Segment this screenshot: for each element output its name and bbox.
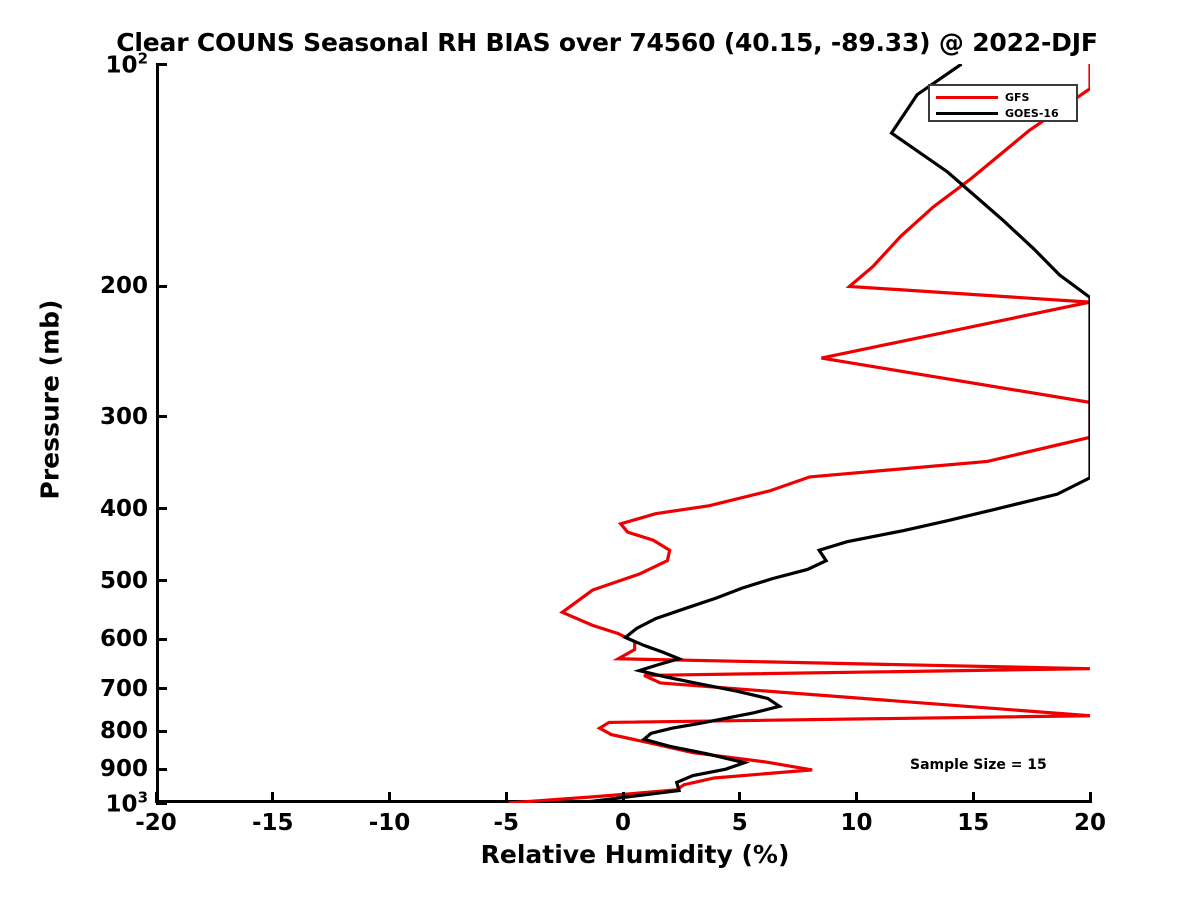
x-tick xyxy=(622,792,625,803)
x-tick xyxy=(972,792,975,803)
x-tick-label: -10 xyxy=(369,810,411,836)
x-tick-label: -5 xyxy=(493,810,519,836)
plot-area xyxy=(156,64,1090,803)
y-tick xyxy=(156,63,167,66)
y-tick xyxy=(156,730,167,733)
legend-swatch-goes16 xyxy=(936,112,998,115)
y-tick-label: 700 xyxy=(100,676,148,702)
x-axis-title: Relative Humidity (%) xyxy=(0,840,1200,869)
y-tick-label: 500 xyxy=(100,568,148,594)
legend-label-gfs: GFS xyxy=(1005,91,1029,104)
y-tick-label: 200 xyxy=(100,273,148,299)
y-tick-label: 400 xyxy=(100,496,148,522)
chart-title: Clear COUNS Seasonal RH BIAS over 74560 … xyxy=(0,28,1200,57)
y-tick xyxy=(156,285,167,288)
legend-label-goes16: GOES-16 xyxy=(1005,107,1059,120)
chart-legend: GFS GOES-16 xyxy=(928,84,1078,122)
y-tick xyxy=(156,802,167,805)
x-tick-label: 0 xyxy=(615,810,631,836)
y-tick xyxy=(156,687,167,690)
y-tick-label: 800 xyxy=(100,718,148,744)
y-axis-title: Pressure (mb) xyxy=(36,150,65,650)
legend-item-goes16: GOES-16 xyxy=(936,106,1070,120)
y-tick xyxy=(156,415,167,418)
series-line-gfs xyxy=(509,64,1090,803)
chart-page: Clear COUNS Seasonal RH BIAS over 74560 … xyxy=(0,0,1200,900)
y-tick xyxy=(156,507,167,510)
x-tick xyxy=(855,792,858,803)
y-tick-label: 900 xyxy=(100,756,148,782)
legend-swatch-gfs xyxy=(936,96,998,99)
series-lines xyxy=(156,64,1090,803)
x-tick xyxy=(505,792,508,803)
series-line-goes-16 xyxy=(579,64,1090,803)
y-tick-label: 102 xyxy=(106,50,148,79)
x-tick xyxy=(1089,792,1092,803)
x-tick-label: 15 xyxy=(957,810,989,836)
y-tick xyxy=(156,638,167,641)
y-tick xyxy=(156,768,167,771)
y-tick-label: 600 xyxy=(100,626,148,652)
x-tick-label: 10 xyxy=(840,810,872,836)
x-tick xyxy=(271,792,274,803)
sample-size-annotation: Sample Size = 15 xyxy=(910,757,1047,773)
x-tick-label: 5 xyxy=(732,810,748,836)
x-tick-label: 20 xyxy=(1074,810,1106,836)
x-tick-label: -15 xyxy=(252,810,294,836)
x-tick xyxy=(388,792,391,803)
x-tick xyxy=(738,792,741,803)
legend-item-gfs: GFS xyxy=(936,90,1070,104)
y-tick-label: 300 xyxy=(100,404,148,430)
y-tick xyxy=(156,579,167,582)
y-tick-label: 103 xyxy=(106,789,148,818)
